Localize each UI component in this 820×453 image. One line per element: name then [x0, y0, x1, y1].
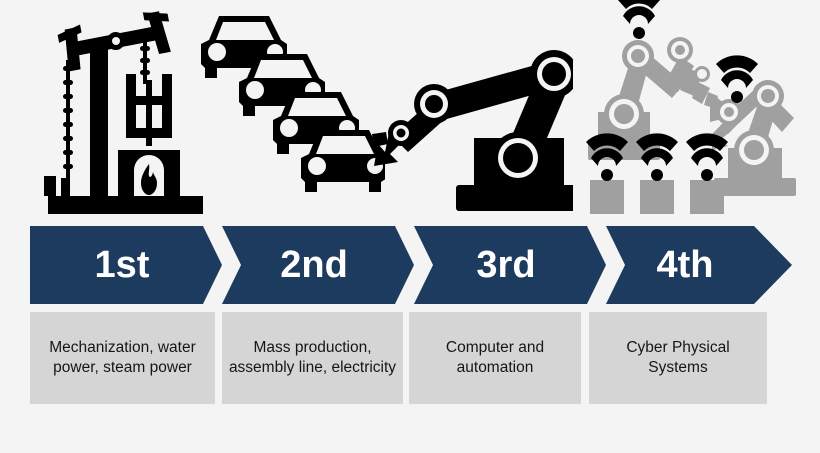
- stage-ordinal-1st: 1st: [95, 246, 150, 284]
- icon-row: [0, 0, 820, 228]
- stage-arrow-2nd[interactable]: 2nd: [222, 226, 414, 304]
- stage-arrow-1st[interactable]: 1st: [30, 226, 222, 304]
- stage-arrow-band: 1st 2nd 3rd 4th: [0, 226, 820, 306]
- industrial-revolutions-diagram: 1st 2nd 3rd 4th Mechanization, water pow…: [0, 0, 820, 453]
- robot-arm-icon: [368, 0, 573, 228]
- steam-engine-icon: [30, 0, 215, 228]
- stage-description-3rd: Computer and automation: [409, 312, 581, 404]
- stage-description-1st: Mechanization, water power, steam power: [30, 312, 215, 404]
- stage-description-4th: Cyber Physical Systems: [589, 312, 767, 404]
- cars-assembly-line-icon: [195, 0, 385, 228]
- stage-ordinal-4th: 4th: [657, 246, 714, 284]
- stage-arrow-4th[interactable]: 4th: [606, 226, 792, 304]
- connected-robots-wifi-icon: [568, 0, 803, 228]
- stage-arrow-3rd[interactable]: 3rd: [414, 226, 606, 304]
- stage-ordinal-2nd: 2nd: [280, 246, 348, 284]
- stage-ordinal-3rd: 3rd: [476, 246, 535, 284]
- stage-description-row: Mechanization, water power, steam power …: [0, 312, 820, 404]
- stage-description-2nd: Mass production, assembly line, electric…: [222, 312, 403, 404]
